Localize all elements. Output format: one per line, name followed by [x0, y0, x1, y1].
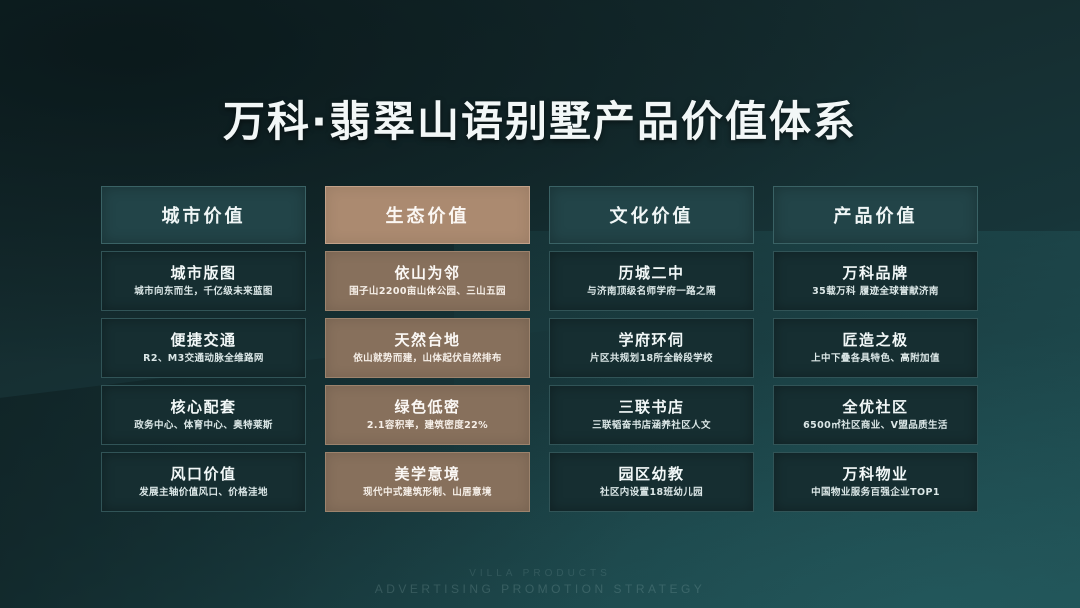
value-cell[interactable]: 天然台地 依山就势而建，山体起伏自然排布 [325, 318, 530, 378]
value-cell-desc: 依山就势而建，山体起伏自然排布 [353, 354, 502, 364]
value-cell-desc: 三联韬奋书店涵养社区人文 [592, 421, 711, 431]
value-cell-title: 学府环伺 [618, 333, 684, 348]
value-column-product: 产品价值 万科品牌 35载万科 履迹全球誉献济南 匠造之极 上中下叠各具特色、高… [773, 186, 978, 512]
value-cell-title: 全优社区 [842, 400, 908, 415]
page-title: 万科·翡翠山语别墅产品价值体系 [0, 88, 1080, 149]
value-cell[interactable]: 万科物业 中国物业服务百强企业TOP1 [773, 452, 978, 512]
footer-line-primary: VILLA PRODUCTS [0, 568, 1080, 579]
column-header-product: 产品价值 [773, 186, 978, 244]
column-header-culture: 文化价值 [549, 186, 754, 244]
slide-canvas: 万科·翡翠山语别墅产品价值体系 城市价值 城市版图 城市向东而生，千亿级未来蓝图… [0, 0, 1080, 608]
value-cell-desc: 社区内设置18班幼儿园 [600, 488, 703, 498]
value-cell[interactable]: 风口价值 发展主轴价值风口、价格洼地 [101, 452, 306, 512]
footer-watermark: VILLA PRODUCTS ADVERTISING PROMOTION STR… [0, 568, 1080, 596]
value-column-culture: 文化价值 历城二中 与济南顶级名师学府一路之隔 学府环伺 片区共规划18所全龄段… [549, 186, 754, 512]
value-cell[interactable]: 便捷交通 R2、M3交通动脉全维路网 [101, 318, 306, 378]
column-header-city: 城市价值 [101, 186, 306, 244]
value-cell-desc: 上中下叠各具特色、高附加值 [811, 354, 940, 364]
value-column-city: 城市价值 城市版图 城市向东而生，千亿级未来蓝图 便捷交通 R2、M3交通动脉全… [101, 186, 306, 512]
value-cell-title: 园区幼教 [618, 467, 684, 482]
value-cell[interactable]: 历城二中 与济南顶级名师学府一路之隔 [549, 251, 754, 311]
value-cell-desc: 2.1容积率，建筑密度22% [367, 421, 488, 431]
value-cell[interactable]: 绿色低密 2.1容积率，建筑密度22% [325, 385, 530, 445]
value-cell[interactable]: 全优社区 6500㎡社区商业、V盟品质生活 [773, 385, 978, 445]
value-cell[interactable]: 城市版图 城市向东而生，千亿级未来蓝图 [101, 251, 306, 311]
value-cell-desc: 城市向东而生，千亿级未来蓝图 [134, 287, 273, 297]
value-cell-title: 美学意境 [394, 467, 460, 482]
value-cell-title: 匠造之极 [842, 333, 908, 348]
value-cell-title: 依山为邻 [394, 266, 460, 281]
column-header-ecology: 生态价值 [325, 186, 530, 244]
value-cell-desc: 6500㎡社区商业、V盟品质生活 [803, 421, 948, 431]
value-cell[interactable]: 核心配套 政务中心、体育中心、奥特莱斯 [101, 385, 306, 445]
value-cell[interactable]: 园区幼教 社区内设置18班幼儿园 [549, 452, 754, 512]
value-cell[interactable]: 美学意境 现代中式建筑形制、山居意境 [325, 452, 530, 512]
value-cell[interactable]: 万科品牌 35载万科 履迹全球誉献济南 [773, 251, 978, 311]
value-cell-desc: R2、M3交通动脉全维路网 [143, 354, 264, 364]
value-cell-title: 天然台地 [394, 333, 460, 348]
value-cell-title: 绿色低密 [394, 400, 460, 415]
value-cell-title: 历城二中 [618, 266, 684, 281]
footer-line-secondary: ADVERTISING PROMOTION STRATEGY [0, 582, 1080, 596]
value-cell-desc: 发展主轴价值风口、价格洼地 [139, 488, 268, 498]
value-cell-title: 风口价值 [170, 467, 236, 482]
value-cell-title: 三联书店 [618, 400, 684, 415]
value-cell-title: 万科物业 [842, 467, 908, 482]
value-system-grid: 城市价值 城市版图 城市向东而生，千亿级未来蓝图 便捷交通 R2、M3交通动脉全… [101, 186, 979, 512]
value-cell-desc: 围子山2200亩山体公园、三山五园 [349, 287, 506, 297]
value-cell-title: 万科品牌 [842, 266, 908, 281]
value-cell-desc: 中国物业服务百强企业TOP1 [811, 488, 940, 498]
value-cell-desc: 与济南顶级名师学府一路之隔 [587, 287, 716, 297]
value-cell[interactable]: 匠造之极 上中下叠各具特色、高附加值 [773, 318, 978, 378]
value-cell-desc: 35载万科 履迹全球誉献济南 [812, 287, 939, 297]
value-cell[interactable]: 学府环伺 片区共规划18所全龄段学校 [549, 318, 754, 378]
value-cell-title: 核心配套 [170, 400, 236, 415]
value-column-ecology: 生态价值 依山为邻 围子山2200亩山体公园、三山五园 天然台地 依山就势而建，… [325, 186, 530, 512]
value-cell[interactable]: 依山为邻 围子山2200亩山体公园、三山五园 [325, 251, 530, 311]
value-cell-desc: 政务中心、体育中心、奥特莱斯 [134, 421, 273, 431]
value-cell[interactable]: 三联书店 三联韬奋书店涵养社区人文 [549, 385, 754, 445]
value-cell-desc: 现代中式建筑形制、山居意境 [363, 488, 492, 498]
value-cell-desc: 片区共规划18所全龄段学校 [590, 354, 713, 364]
value-cell-title: 便捷交通 [170, 333, 236, 348]
value-cell-title: 城市版图 [170, 266, 236, 281]
